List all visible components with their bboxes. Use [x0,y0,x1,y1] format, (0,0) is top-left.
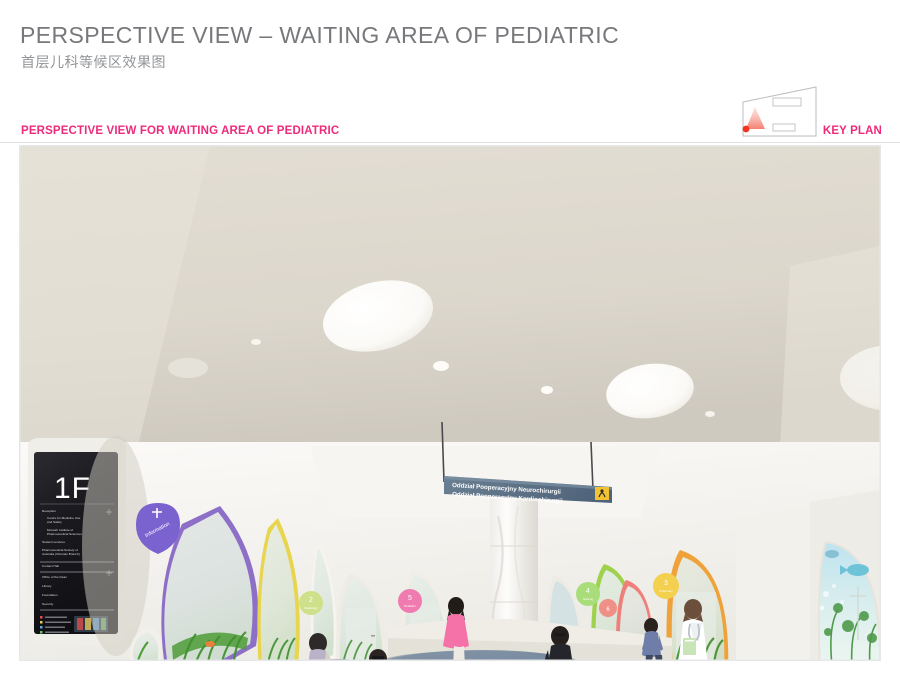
svg-text:Pharmacy: Pharmacy [659,589,673,593]
svg-text:Office of the Dean: Office of the Dean [42,575,67,579]
right-ceiling-plane [780,246,880,446]
fish-icon [847,564,869,576]
view-point-marker-icon [743,126,750,133]
badge-4-label: 4 [586,588,590,595]
pediatric-waiting-area-render: 1F Reception Centre for Medicine Use and… [20,146,880,660]
header-divider [0,142,900,143]
svg-text:Reception: Reception [42,509,56,513]
svg-text:Security: Security [42,602,54,606]
badge-5-label: 5 [408,595,412,602]
badge-3-label: 3 [664,580,668,587]
badge-3[interactable]: 3 Pharmacy [653,573,679,599]
badge-5[interactable]: 5 Pediatric [398,589,422,613]
key-plan-room-upper [773,98,801,106]
key-plan-thumbnail [738,85,820,137]
svg-text:Pediatric: Pediatric [404,604,416,608]
right-corridor-wall [736,506,810,660]
board-wall-shadow [82,436,150,656]
section-heading: PERSPECTIVE VIEW FOR WAITING AREA OF PED… [21,125,339,137]
svg-text:Australia (Victorian Branch): Australia (Victorian Branch) [42,552,80,556]
svg-text:Student services: Student services [42,540,65,544]
svg-text:Radiology: Radiology [304,606,318,610]
key-plan-label: KEY PLAN [823,125,882,137]
svg-text:Nursing: Nursing [583,597,594,601]
svg-text:and Safety: and Safety [47,520,62,524]
badge-4[interactable]: 4 Nursing [576,582,600,606]
page-subtitle-chinese: 首层儿科等候区效果图 [21,52,166,72]
svg-text:Pharmaceutical Sciences: Pharmaceutical Sciences [47,532,82,536]
svg-text:Contact Hall: Contact Hall [42,564,59,568]
page-title: PERSPECTIVE VIEW – WAITING AREA OF PEDIA… [20,22,619,49]
svg-text:Library: Library [42,584,52,588]
badge-6[interactable]: 6 [599,599,617,617]
badge-2[interactable]: 2 Radiology [299,591,323,615]
badge-2-label: 2 [309,597,313,604]
key-plan-room-lower [773,124,795,131]
svg-text:Foundation: Foundation [42,593,58,597]
